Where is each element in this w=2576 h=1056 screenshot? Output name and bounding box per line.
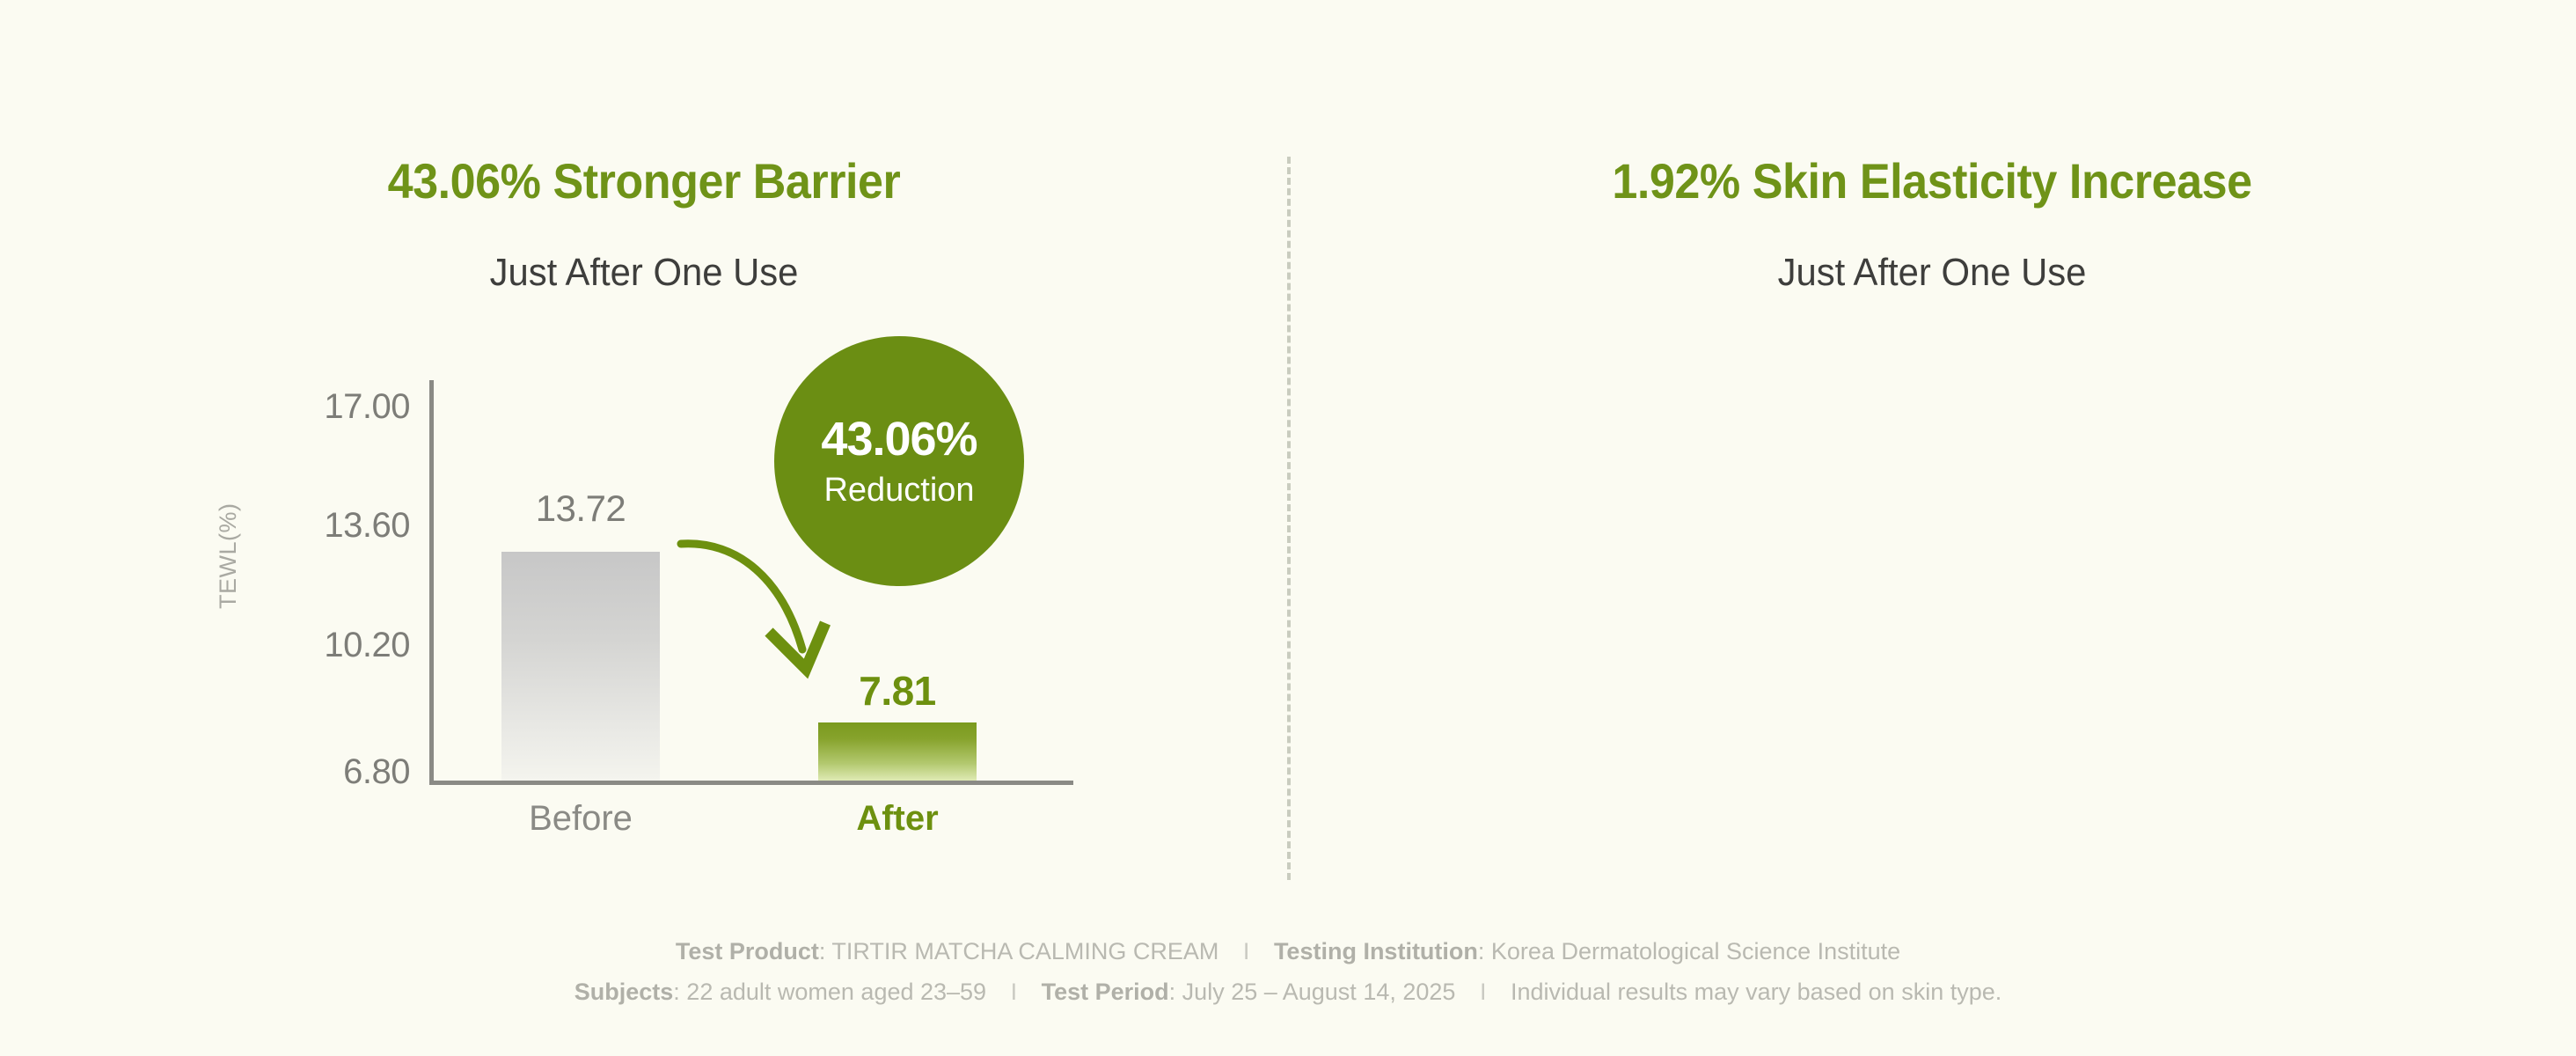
y-tick-label: 10.20 xyxy=(324,627,410,663)
y-tick-label: 6.80 xyxy=(343,754,410,789)
footer-value-test-product: : TIRTIR MATCHA CALMING CREAM xyxy=(819,938,1219,964)
footer-value-test-period: : July 25 – August 14, 2025 xyxy=(1169,979,1456,1005)
bar-before xyxy=(501,552,660,781)
footer-value-subjects: : 22 adult women aged 23–59 xyxy=(673,979,986,1005)
y-axis-line xyxy=(429,380,434,785)
footer-note-individual-results: Individual results may vary based on ski… xyxy=(1511,979,2002,1005)
footer-label-subjects: Subjects xyxy=(574,979,674,1005)
footer-label-test-period: Test Period xyxy=(1042,979,1169,1005)
badge-reduction: 43.06% Reduction xyxy=(774,336,1024,586)
y-tick-label: 13.60 xyxy=(324,508,410,543)
y-axis-title: TEWL(%) xyxy=(215,503,242,610)
bar-category-before: Before xyxy=(422,801,739,836)
panel-barrier: 43.06% Stronger Barrier Just After One U… xyxy=(0,0,1288,915)
panel-subtitle-barrier: Just After One Use xyxy=(33,253,1256,292)
footer-separator: I xyxy=(1462,972,1504,1012)
footer-separator: I xyxy=(1226,931,1268,972)
x-axis-line xyxy=(429,781,1073,785)
panel-title-elasticity: 1.92% Skin Elasticity Increase xyxy=(1333,157,2531,206)
bar-after xyxy=(818,722,977,781)
footer-line-2: Subjects: 22 adult women aged 23–59 I Te… xyxy=(0,972,2576,1012)
footer-label-test-product: Test Product xyxy=(676,938,819,964)
panel-subtitle-elasticity: Just After One Use xyxy=(1321,253,2544,292)
y-tick-label: 17.00 xyxy=(324,389,410,424)
panel-title-barrier: 43.06% Stronger Barrier xyxy=(45,157,1243,206)
footer-label-testing-institution: Testing Institution xyxy=(1274,938,1478,964)
bar-value-before: 13.72 xyxy=(422,490,739,527)
panel-elasticity: 1.92% Skin Elasticity Increase Just Afte… xyxy=(1288,0,2576,915)
footer-line-1: Test Product: TIRTIR MATCHA CALMING CREA… xyxy=(0,931,2576,972)
bar-category-after: After xyxy=(739,801,1056,836)
badge-value: 43.06% xyxy=(821,415,977,463)
badge-label: Reduction xyxy=(823,473,974,507)
footer-separator: I xyxy=(993,972,1036,1012)
footer-disclaimer: Test Product: TIRTIR MATCHA CALMING CREA… xyxy=(0,931,2576,1012)
footer-value-testing-institution: : Korea Dermatological Science Institute xyxy=(1478,938,1900,964)
